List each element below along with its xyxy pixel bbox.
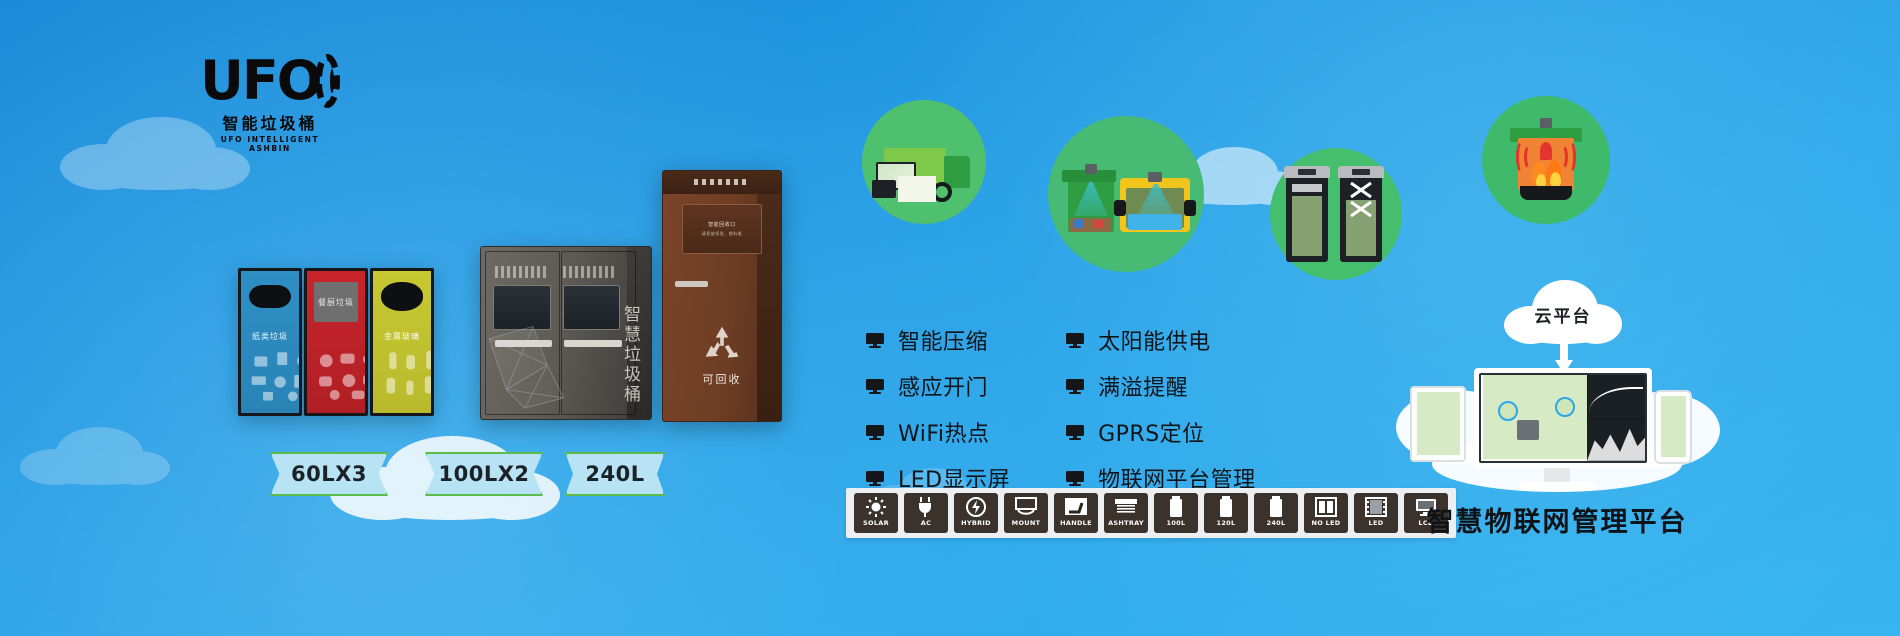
feature-item: 满溢提醒	[1066, 370, 1256, 402]
bin-fire-alarm-icon	[1510, 116, 1582, 200]
logo-wordmark: UFO	[200, 54, 321, 108]
product-triple-bin: 纸类垃圾 餐厨垃圾	[238, 268, 434, 416]
no-led-panel-icon	[1313, 496, 1339, 518]
feature-label: 满溢提醒	[1098, 370, 1188, 402]
circle-icon-collection-truck	[862, 100, 986, 224]
spec-caption: 240L	[1267, 519, 1286, 527]
feature-label: 感应开门	[898, 370, 988, 402]
tablet-device	[1410, 386, 1466, 462]
monitor-bullet-icon	[1066, 425, 1084, 440]
capacity-badge-100lx2: 100LX2	[425, 452, 543, 496]
feature-column-left: 智能压缩 感应开门 WiFi热点 LED显示屏	[866, 324, 1010, 494]
feature-label: GPRS定位	[1098, 416, 1205, 448]
spec-icon-strip: SOLAR AC HYBRID MOUNT	[846, 488, 1456, 538]
circle-icon-fill-sensor	[1048, 116, 1204, 272]
cloud-shape: 云平台	[1504, 282, 1622, 344]
ashtray-icon	[1113, 496, 1139, 518]
cloud-decoration	[20, 430, 170, 485]
compactor-bin-left-icon	[1284, 166, 1330, 262]
spec-caption: NO LED	[1311, 519, 1340, 527]
monitor-map-view	[1481, 375, 1587, 461]
monitor-bullet-icon	[866, 333, 884, 348]
circle-icon-fire-alarm	[1482, 96, 1610, 224]
spec-mount[interactable]: MOUNT	[1004, 493, 1048, 533]
feature-label: 智能压缩	[898, 324, 988, 356]
power-plug-icon	[913, 496, 939, 518]
spec-handle[interactable]: HANDLE	[1054, 493, 1098, 533]
handheld-device-icon	[872, 180, 896, 198]
bin-compartment-paper: 纸类垃圾	[238, 268, 302, 416]
yellow-container-sensor-icon	[1120, 172, 1190, 234]
spec-caption: 120L	[1217, 519, 1236, 527]
monitor-bullet-icon	[1066, 333, 1084, 348]
logo-english-name: UFO INTELLIGENT ASHBIN	[200, 135, 340, 153]
spec-solar[interactable]: SOLAR	[854, 493, 898, 533]
cloud-platform-label: 云平台	[1504, 302, 1622, 327]
phone-screen-map	[1660, 396, 1686, 458]
waste-illustration-icon	[312, 348, 368, 405]
smartphone-device	[1654, 390, 1692, 464]
marketing-banner: UFO 智能垃圾桶 UFO INTELLIGENT ASHBIN 纸类垃圾 餐厨…	[0, 0, 1900, 636]
led-panel-icon	[1363, 496, 1389, 518]
bin-compartment-label: 金属玻璃	[373, 331, 431, 342]
bin-120l-icon	[1213, 496, 1239, 518]
spec-caption: SOLAR	[863, 519, 889, 527]
spec-caption: ASHTRAY	[1108, 519, 1144, 527]
monitor-bullet-icon	[1066, 379, 1084, 394]
feature-item: WiFi热点	[866, 416, 1010, 448]
spec-caption: MOUNT	[1012, 519, 1041, 527]
spec-ac[interactable]: AC	[904, 493, 948, 533]
feature-item: 智能压缩	[866, 324, 1010, 356]
hybrid-power-icon	[963, 496, 989, 518]
monitor-bar-chart	[1587, 420, 1645, 461]
green-bin-sensor-icon	[1066, 168, 1116, 234]
bin-handle	[675, 281, 708, 287]
compactor-bin-right-icon	[1338, 166, 1384, 262]
feature-column-right: 太阳能供电 满溢提醒 GPRS定位 物联网平台管理	[1066, 324, 1256, 494]
sun-icon	[863, 496, 889, 518]
polygon-graphic	[484, 316, 586, 412]
spec-caption: LED	[1369, 519, 1384, 527]
feature-item: 太阳能供电	[1066, 324, 1256, 356]
bin-header-text	[563, 266, 614, 278]
bin-100l-icon	[1163, 496, 1189, 518]
spec-caption: AC	[921, 519, 931, 527]
tablet-device-icon	[898, 176, 936, 202]
spec-100l[interactable]: 100L	[1154, 493, 1198, 533]
desktop-monitor	[1474, 368, 1652, 468]
recycle-icon	[700, 324, 744, 364]
bin-slot-icon	[381, 282, 423, 310]
spec-hybrid[interactable]: HYBRID	[954, 493, 998, 533]
monitor-bullet-icon	[866, 471, 884, 486]
monitor-bullet-icon	[866, 379, 884, 394]
monitor-line-chart	[1587, 375, 1645, 420]
spec-240l[interactable]: 240L	[1254, 493, 1298, 533]
bin-display-line2: 请投放纸张、塑料瓶	[702, 231, 743, 237]
capacity-badge-240l: 240L	[565, 452, 665, 496]
spec-120l[interactable]: 120L	[1204, 493, 1248, 533]
bin-recycle-label: 可回收	[663, 371, 781, 387]
handle-icon	[1063, 496, 1089, 518]
spec-caption: HANDLE	[1060, 519, 1092, 527]
bin-display-line1: 智能回收口	[708, 221, 736, 228]
brand-logo: UFO 智能垃圾桶 UFO INTELLIGENT ASHBIN	[200, 54, 340, 153]
bin-slot-icon	[249, 285, 291, 308]
led-strip-icon	[694, 179, 751, 185]
compress-arrows-icon	[1348, 180, 1374, 220]
logo-chinese-name: 智能垃圾桶	[200, 110, 340, 134]
bin-header-text	[495, 266, 546, 278]
feature-item: GPRS定位	[1066, 416, 1256, 448]
bin-compartment-kitchen: 餐厨垃圾	[304, 268, 368, 416]
wall-mount-icon	[1013, 496, 1039, 518]
bin-compartment-label: 纸类垃圾	[241, 331, 299, 342]
spec-caption: HYBRID	[961, 519, 991, 527]
bin-panel-label: 餐厨垃圾	[314, 282, 358, 322]
capacity-badge-60lx3: 60LX3	[270, 452, 388, 496]
bin-240l-icon	[1263, 496, 1289, 518]
monitor-bullet-icon	[866, 425, 884, 440]
circle-icon-compactor-bins	[1270, 148, 1402, 280]
waste-illustration-icon	[378, 348, 434, 405]
cloud-platform-illustration: 云平台	[1392, 286, 1722, 496]
spec-caption: 100L	[1167, 519, 1186, 527]
feature-label: 太阳能供电	[1098, 324, 1211, 356]
monitor-bullet-icon	[1066, 471, 1084, 486]
feature-item: 感应开门	[866, 370, 1010, 402]
waste-illustration-icon	[246, 348, 302, 405]
logo-ring-icon	[315, 54, 340, 108]
monitor-base	[1520, 482, 1594, 491]
platform-title: 智慧物联网管理平台	[1392, 500, 1722, 539]
spec-ashtray[interactable]: ASHTRAY	[1104, 493, 1148, 533]
feature-lists: 智能压缩 感应开门 WiFi热点 LED显示屏 太阳能供电 满溢提醒	[866, 324, 1256, 494]
product-double-bin: 智慧垃圾桶	[480, 246, 652, 420]
feature-label: WiFi热点	[898, 416, 990, 448]
bin-display: 智能回收口 请投放纸张、塑料瓶	[682, 204, 762, 254]
product-single-bin: 智能回收口 请投放纸张、塑料瓶 可回收	[662, 170, 782, 422]
bin-compartment-metal-glass: 金属玻璃	[370, 268, 434, 416]
tablet-screen-map	[1416, 392, 1460, 456]
bin-vertical-text: 智慧垃圾桶	[618, 305, 643, 405]
spec-no-led[interactable]: NO LED	[1304, 493, 1348, 533]
